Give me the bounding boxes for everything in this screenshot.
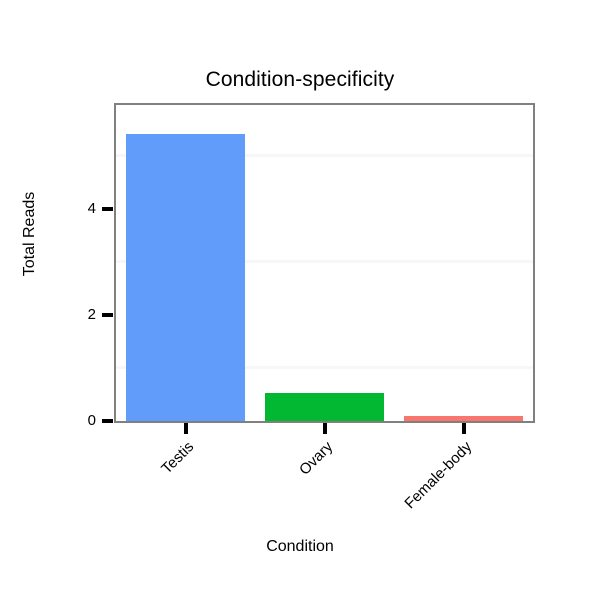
y-tick-mark [102, 207, 113, 211]
chart-title: Condition-specificity [0, 68, 600, 92]
y-tick-mark [102, 419, 113, 423]
y-axis-title: Total Reads [21, 134, 39, 334]
bar-testis[interactable] [126, 134, 245, 421]
x-tick-mark [184, 423, 188, 434]
plot-panel [114, 103, 535, 423]
y-tick-label: 4 [52, 201, 96, 216]
bar-female-body[interactable] [404, 416, 523, 421]
x-tick-mark [323, 423, 327, 434]
y-tick-label: 0 [52, 413, 96, 428]
x-axis-title: Condition [0, 538, 600, 556]
y-tick-label: 2 [52, 307, 96, 322]
bar-chart: Condition-specificity 024 Total Reads Te… [0, 0, 600, 600]
bar-ovary[interactable] [265, 393, 384, 421]
y-tick-mark [102, 313, 113, 317]
x-tick-mark [462, 423, 466, 434]
